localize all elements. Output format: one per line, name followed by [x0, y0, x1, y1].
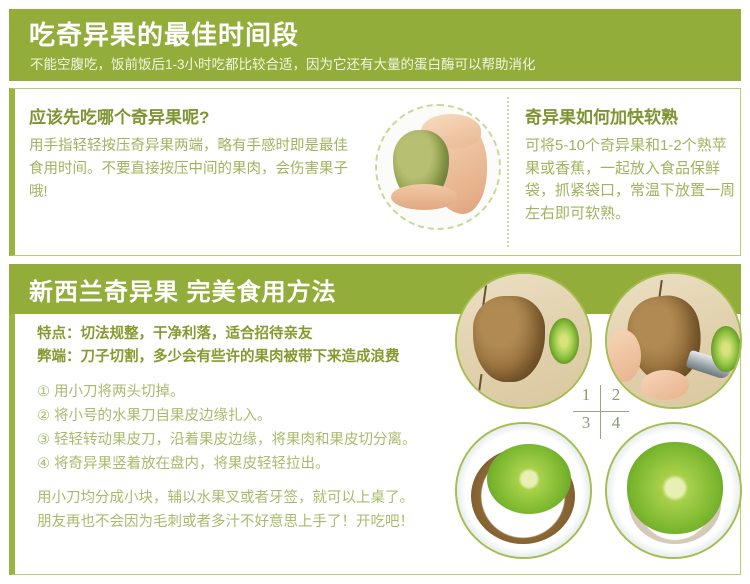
- kiwi-infographic-page: 吃奇异果的最佳时间段 不能空腹吃，饭前饭后1-3小时吃都比较合适，因为它还有大量…: [0, 0, 750, 584]
- section2-right-body: 可将5-10个奇异果和1-2个熟苹果或香蕉，一起放入食品保鲜袋，抓紧袋口，常温下…: [525, 135, 737, 225]
- column-divider: [507, 97, 509, 247]
- kiwi-flesh-shape: [487, 444, 571, 514]
- step-photo-3: [455, 422, 592, 559]
- section1-subtitle: 不能空腹吃，饭前饭后1-3小时吃都比较合适，因为它还有大量的蛋白酶可以帮助消化: [30, 53, 536, 73]
- step-item: ① 用小刀将两头切掉。: [37, 380, 467, 404]
- kiwi-flesh-shape: [627, 442, 723, 534]
- feature-line: 弊端：刀子切割，多少会有些许的果肉被带下来造成浪费: [37, 346, 467, 369]
- step-photo-1: [455, 272, 592, 409]
- step-photo-grid: 1 2 3 4: [455, 272, 745, 572]
- step-item: ③ 轻轻转动果皮刀，沿着果皮边缘，将果肉和果皮切分离。: [37, 428, 467, 452]
- section2-left-heading: 应该先吃哪个奇异果呢?: [29, 103, 359, 128]
- legend-number-4: 4: [605, 413, 627, 433]
- step-item: ④ 将奇异果竖着放在盘内，将果皮轻轻拉出。: [37, 452, 467, 476]
- legend-vertical-rule: [600, 385, 601, 439]
- finger-shape: [607, 330, 641, 382]
- outro-line: 用小刀均分成小块，辅以水果叉或者牙签，就可以上桌了。: [37, 486, 467, 510]
- kiwi-slice-shape: [549, 318, 579, 364]
- step-item: ② 将小号的水果刀自果皮边缘扎入。: [37, 404, 467, 428]
- section2-right-heading: 奇异果如何加快软熟: [525, 103, 737, 128]
- section3-steps: ① 用小刀将两头切掉。 ② 将小号的水果刀自果皮边缘扎入。 ③ 轻轻转动果皮刀，…: [37, 380, 467, 476]
- feature-line: 特点：切法规整，干净利落，适合招待亲友: [37, 323, 467, 346]
- section2-right-column: 奇异果如何加快软熟 可将5-10个奇异果和1-2个熟苹果或香蕉，一起放入食品保鲜…: [525, 103, 737, 225]
- legend-horizontal-rule: [573, 411, 629, 412]
- section2-left-column: 应该先吃哪个奇异果呢? 用手指轻轻按压奇异果两端，略有手感时即是最佳食用时间。不…: [29, 103, 359, 204]
- section2-left-body: 用手指轻轻按压奇异果两端，略有手感时即是最佳食用时间。不要直接按压中间的果肉，会…: [29, 135, 359, 204]
- kiwi-in-hand-photo: [375, 104, 501, 230]
- kiwi-slice-shape: [711, 326, 741, 372]
- legend-number-3: 3: [575, 413, 597, 433]
- photo-grid-legend: 1 2 3 4: [573, 385, 629, 443]
- finger-shape: [641, 370, 689, 400]
- section1-title-band: 吃奇异果的最佳时间段 不能空腹吃，饭前饭后1-3小时吃都比较合适，因为它还有大量…: [9, 9, 741, 81]
- section1-title: 吃奇异果的最佳时间段: [29, 15, 299, 52]
- legend-number-2: 2: [605, 385, 627, 405]
- section3-features: 特点：切法规整，干净利落，适合招待亲友 弊端：刀子切割，多少会有些许的果肉被带下…: [37, 323, 467, 370]
- section3-outro: 用小刀均分成小块，辅以水果叉或者牙签，就可以上桌了。 朋友再也不会因为毛刺或者多…: [37, 486, 467, 535]
- outro-line: 朋友再也不会因为毛刺或者多汁不好意思上手了！开吃吧！: [37, 510, 467, 534]
- section2-card: 应该先吃哪个奇异果呢? 用手指轻轻按压奇异果两端，略有手感时即是最佳食用时间。不…: [9, 88, 741, 256]
- legend-number-1: 1: [575, 385, 597, 405]
- section3-title: 新西兰奇异果 完美食用方法: [29, 272, 337, 307]
- thumb-shape: [391, 184, 457, 210]
- kiwi-shape: [473, 296, 545, 382]
